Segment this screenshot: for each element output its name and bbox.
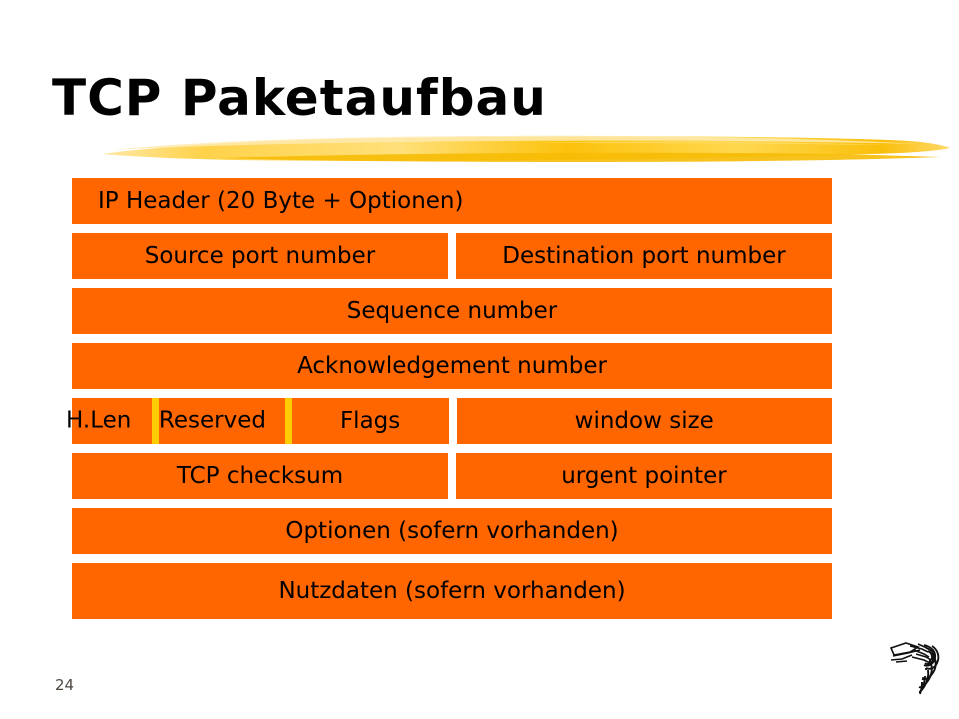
sequence-number-row: Sequence number — [72, 288, 832, 334]
page-title: TCP Paketaufbau — [52, 72, 547, 125]
cell-window-size: window size — [457, 398, 832, 444]
cell-acknowledgement-number: Acknowledgement number — [72, 343, 832, 389]
cell-source-port-number: Source port number — [72, 233, 448, 279]
field-divider-1 — [152, 398, 159, 444]
cell-flags: Flags — [292, 398, 449, 444]
port-numbers-row: Source port number Destination port numb… — [72, 233, 832, 279]
signature-logo-svg — [888, 638, 948, 700]
acknowledgement-number-row: Acknowledgement number — [72, 343, 832, 389]
tcp-packet-structure: IP Header (20 Byte + Optionen) Source po… — [72, 178, 832, 628]
cell-sequence-number: Sequence number — [72, 288, 832, 334]
ip-header-row: IP Header (20 Byte + Optionen) — [72, 178, 832, 224]
cell-ip-header: IP Header (20 Byte + Optionen) — [72, 178, 832, 224]
options-row: Optionen (sofern vorhanden) — [72, 508, 832, 554]
cell-reserved: Reserved — [159, 398, 285, 444]
gold-brush-stroke — [100, 128, 952, 174]
checksum-row: TCP checksum urgent pointer — [72, 453, 832, 499]
cell-reserved-label: Reserved — [159, 410, 266, 433]
cell-payload: Nutzdaten (sofern vorhanden) — [72, 563, 832, 619]
cell-header-length: H.Len — [72, 398, 152, 444]
page-number: 24 — [55, 676, 74, 694]
brush-stroke-svg — [100, 128, 952, 174]
cell-destination-port-number: Destination port number — [456, 233, 832, 279]
cell-options: Optionen (sofern vorhanden) — [72, 508, 832, 554]
cell-urgent-pointer: urgent pointer — [456, 453, 832, 499]
cell-header-length-label: H.Len — [66, 410, 131, 433]
field-divider-2 — [285, 398, 292, 444]
payload-row: Nutzdaten (sofern vorhanden) — [72, 563, 832, 619]
flags-row: H.Len Reserved Flags window size — [72, 398, 832, 444]
signature-logo-mark — [888, 638, 948, 700]
cell-tcp-checksum: TCP checksum — [72, 453, 448, 499]
